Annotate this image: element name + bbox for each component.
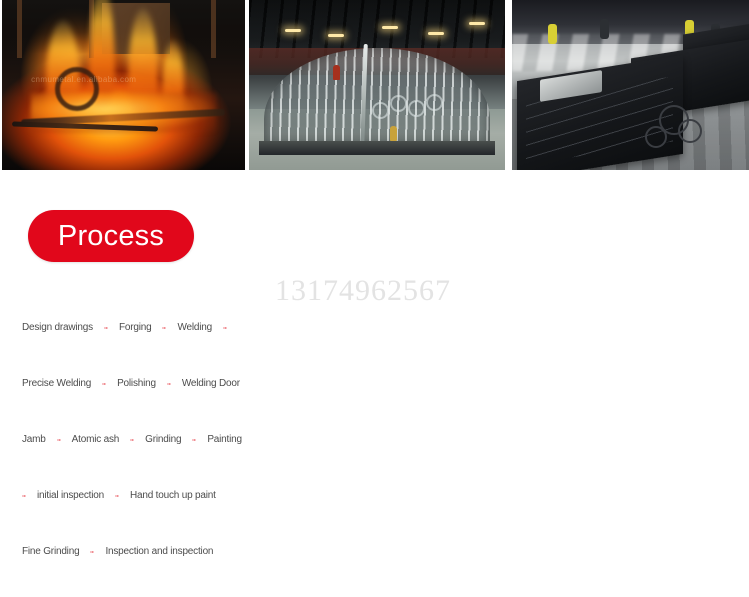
process-step-line: Precise WeldingPolishingWelding Door bbox=[0, 356, 749, 412]
process-step-line: Design drawingsForgingWelding bbox=[0, 300, 749, 356]
process-step-line: initial inspectionHand touch up paint bbox=[0, 468, 749, 524]
process-step-label: Welding bbox=[177, 323, 212, 333]
right-arrow-icon bbox=[57, 429, 61, 451]
right-arrow-icon bbox=[192, 429, 196, 451]
process-step-label: Welding Door bbox=[182, 379, 240, 389]
photo-strip: cnmumetal.en.alibaba.com bbox=[0, 0, 749, 170]
process-step-label: Polishing bbox=[117, 379, 156, 389]
right-arrow-icon bbox=[22, 485, 26, 507]
process-step-label: Fine Grinding bbox=[22, 547, 79, 557]
right-arrow-icon bbox=[162, 317, 166, 339]
right-arrow-icon bbox=[167, 373, 171, 395]
process-step-label: Grinding bbox=[145, 435, 181, 445]
process-step-label: initial inspection bbox=[37, 491, 104, 501]
right-arrow-icon bbox=[115, 485, 119, 507]
right-arrow-icon bbox=[104, 317, 108, 339]
process-step-label: Forging bbox=[119, 323, 152, 333]
welded-arch-frame-photo bbox=[249, 0, 505, 170]
forging-furnace-photo: cnmumetal.en.alibaba.com bbox=[2, 0, 245, 170]
black-door-panels-photo bbox=[512, 0, 749, 170]
process-step-label: Atomic ash bbox=[72, 435, 119, 445]
right-arrow-icon bbox=[130, 429, 134, 451]
process-badge: Process bbox=[28, 210, 194, 262]
process-step-label: Inspection and inspection bbox=[105, 547, 213, 557]
photo-watermark: cnmumetal.en.alibaba.com bbox=[31, 75, 136, 84]
process-section: Process 13174962567 Design drawingsForgi… bbox=[0, 170, 749, 597]
right-arrow-icon bbox=[223, 317, 227, 339]
right-arrow-icon bbox=[90, 541, 94, 563]
process-steps-list: Design drawingsForgingWeldingPrecise Wel… bbox=[0, 300, 749, 580]
process-step-line: JambAtomic ashGrindingPainting bbox=[0, 412, 749, 468]
process-step-label: Painting bbox=[207, 435, 242, 445]
process-step-label: Design drawings bbox=[22, 323, 93, 333]
process-badge-label: Process bbox=[58, 222, 164, 251]
process-step-line: Fine GrindingInspection and inspection bbox=[0, 524, 749, 580]
process-step-label: Precise Welding bbox=[22, 379, 91, 389]
process-step-label: Hand touch up paint bbox=[130, 491, 216, 501]
right-arrow-icon bbox=[102, 373, 106, 395]
process-step-label: Jamb bbox=[22, 435, 46, 445]
